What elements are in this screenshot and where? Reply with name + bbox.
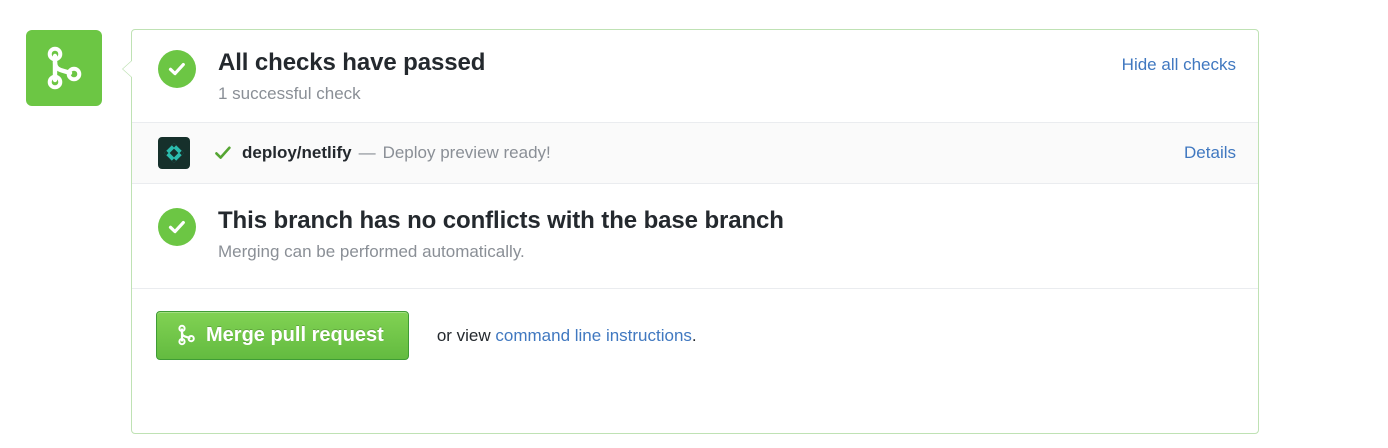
merge-status-panel: All checks have passed 1 successful chec…	[131, 29, 1259, 434]
git-merge-icon	[44, 45, 84, 91]
git-merge-badge	[26, 30, 102, 106]
or-view-text: or view	[437, 326, 496, 345]
check-icon	[214, 144, 232, 162]
merge-status-screen: All checks have passed 1 successful chec…	[0, 0, 1388, 448]
check-name[interactable]: deploy/netlify	[242, 143, 352, 163]
hide-all-checks-link[interactable]: Hide all checks	[1122, 53, 1236, 77]
git-merge-icon	[177, 324, 196, 346]
merge-button-label: Merge pull request	[206, 323, 384, 347]
netlify-logo-icon	[158, 137, 190, 169]
check-description: Deploy preview ready!	[383, 143, 551, 163]
command-line-instructions-link[interactable]: command line instructions	[495, 326, 692, 345]
check-separator: —	[359, 143, 376, 163]
merge-action-footer: Merge pull request or view command line …	[132, 289, 1258, 382]
checks-summary-subtitle: 1 successful check	[218, 82, 1122, 106]
check-row: deploy/netlify — Deploy preview ready! D…	[132, 122, 1258, 184]
merge-pull-request-button[interactable]: Merge pull request	[156, 311, 409, 360]
hint-suffix: .	[692, 326, 697, 345]
check-circle-icon	[158, 50, 196, 88]
page-title: All checks have passed	[218, 48, 1122, 77]
command-line-hint: or view command line instructions.	[437, 326, 697, 346]
checks-summary-section: All checks have passed 1 successful chec…	[132, 30, 1258, 122]
conflicts-title: This branch has no conflicts with the ba…	[218, 206, 1236, 235]
conflicts-section: This branch has no conflicts with the ba…	[132, 184, 1258, 289]
check-details-link[interactable]: Details	[1184, 143, 1236, 163]
conflicts-subtitle: Merging can be performed automatically.	[218, 240, 1236, 264]
check-circle-icon	[158, 208, 196, 246]
